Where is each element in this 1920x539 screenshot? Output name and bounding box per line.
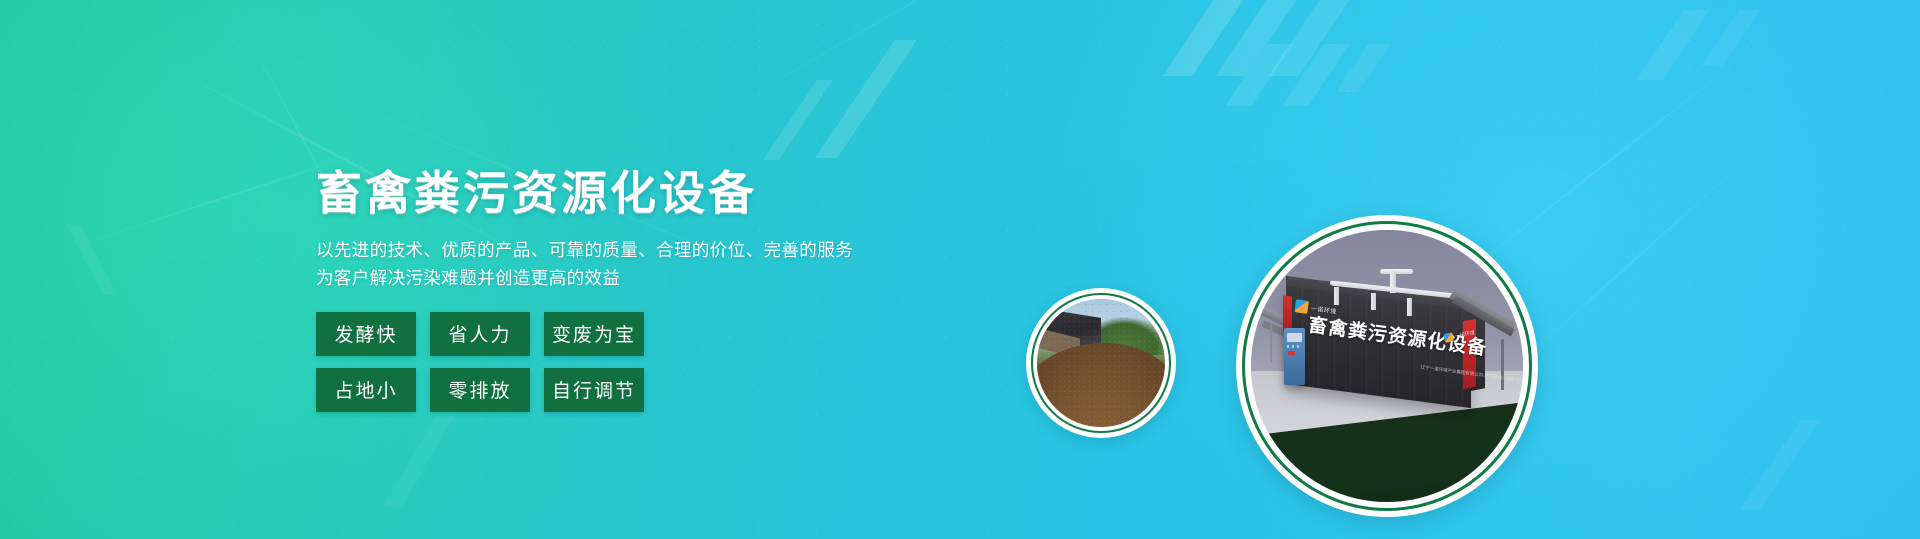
feature-tag-small-footprint[interactable]: 占地小 bbox=[316, 368, 416, 412]
unit-vent-cap bbox=[1380, 269, 1413, 274]
brand-mark-icon bbox=[1444, 332, 1455, 343]
compost-photo-ring bbox=[1031, 293, 1171, 433]
decorative-bar bbox=[1740, 420, 1821, 510]
conveyor-support-leg bbox=[1501, 339, 1504, 391]
decorative-bar bbox=[1636, 10, 1709, 80]
decorative-bar bbox=[1225, 44, 1293, 106]
cabinet-red-button bbox=[1288, 351, 1296, 355]
feature-tag-fast-fermentation[interactable]: 发酵快 bbox=[316, 312, 416, 356]
decorative-streak bbox=[690, 0, 1211, 132]
compost-photo-circle bbox=[1026, 288, 1176, 438]
decorative-bar bbox=[815, 40, 917, 158]
decorative-streak bbox=[1499, 139, 1768, 381]
unit-pipe-joint bbox=[1371, 293, 1376, 311]
equipment-render: 一诺环境 畜禽粪污资源化设备 一诺环境 辽宁一诺环境产业集团有限公司 服务热线：… bbox=[1251, 230, 1523, 502]
decorative-bar bbox=[1282, 44, 1350, 106]
decorative-bar bbox=[1268, 0, 1353, 76]
conveyor-leg bbox=[1270, 322, 1272, 363]
decorative-bar bbox=[383, 415, 454, 507]
decorative-bar bbox=[763, 80, 833, 160]
feature-tag-list: 发酵快 省人力 变废为宝 占地小 零排放 自行调节 bbox=[316, 312, 656, 412]
feature-tag-labor-saving[interactable]: 省人力 bbox=[430, 312, 530, 356]
compost-photo bbox=[1037, 299, 1165, 427]
unit-pipe-joint bbox=[1407, 298, 1412, 316]
decorative-bar bbox=[1701, 10, 1761, 66]
equipment-render-circle: 一诺环境 畜禽粪污资源化设备 一诺环境 辽宁一诺环境产业集团有限公司 服务热线：… bbox=[1236, 215, 1538, 517]
decorative-bar bbox=[66, 225, 117, 295]
feature-tag-self-adjusting[interactable]: 自行调节 bbox=[544, 368, 644, 412]
banner-headline: 畜禽粪污资源化设备 bbox=[316, 168, 936, 220]
decorative-bar bbox=[1336, 44, 1390, 92]
banner-content: 畜禽粪污资源化设备 以先进的技术、优质的产品、可靠的质量、合理的价位、完善的服务… bbox=[316, 168, 936, 412]
unit-pipe-joint bbox=[1334, 287, 1339, 305]
cabinet-controls bbox=[1287, 345, 1302, 348]
decorative-bar bbox=[1162, 0, 1247, 76]
cabinet-screen bbox=[1287, 333, 1303, 342]
feature-tag-zero-emission[interactable]: 零排放 bbox=[430, 368, 530, 412]
decorative-bar bbox=[1215, 0, 1300, 76]
control-cabinet bbox=[1284, 328, 1306, 385]
unit-left-red-cap bbox=[1283, 296, 1292, 333]
background-noise-texture bbox=[0, 0, 1920, 539]
brand-mark-icon bbox=[1294, 299, 1309, 314]
feature-tag-waste-to-treasure[interactable]: 变废为宝 bbox=[544, 312, 644, 356]
subtitle-line-2: 为客户解决污染难题并创造更高的效益 bbox=[316, 264, 936, 292]
subtitle-line-1: 以先进的技术、优质的产品、可靠的质量、合理的价位、完善的服务 bbox=[316, 236, 936, 264]
compost-grain-texture bbox=[1037, 299, 1165, 427]
equipment-render-ring: 一诺环境 畜禽粪污资源化设备 一诺环境 辽宁一诺环境产业集团有限公司 服务热线：… bbox=[1242, 221, 1532, 511]
banner-subtitle: 以先进的技术、优质的产品、可靠的质量、合理的价位、完善的服务 为客户解决污染难题… bbox=[316, 236, 936, 293]
promo-banner: 畜禽粪污资源化设备 以先进的技术、优质的产品、可靠的质量、合理的价位、完善的服务… bbox=[0, 0, 1920, 539]
